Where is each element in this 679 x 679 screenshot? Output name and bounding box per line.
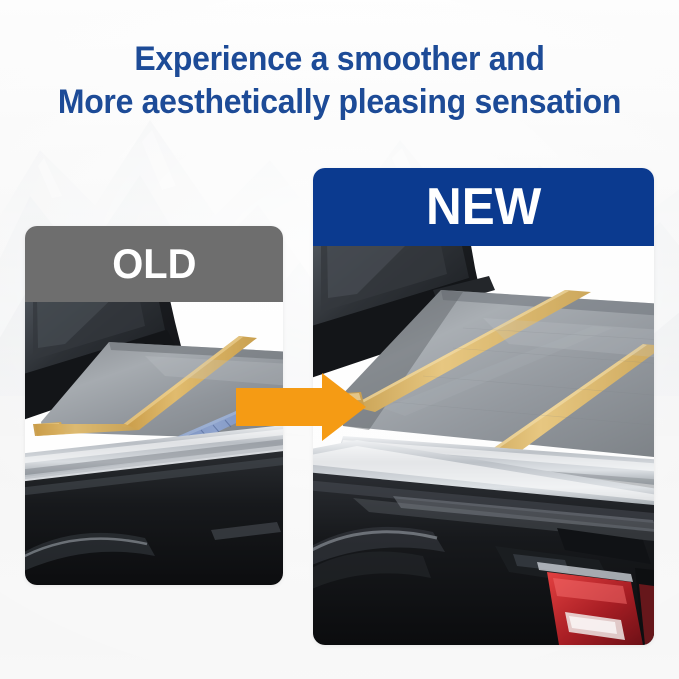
headline: Experience a smoother and More aesthetic…	[0, 38, 679, 124]
old-badge: OLD	[25, 226, 283, 302]
new-badge-label: NEW	[426, 181, 541, 233]
headline-line-2: More aesthetically pleasing sensation	[20, 81, 658, 124]
old-badge-label: OLD	[112, 243, 196, 285]
headline-line-1: Experience a smoother and	[20, 38, 658, 81]
right-arrow-icon	[236, 372, 366, 442]
new-badge: NEW	[313, 168, 654, 246]
banner-canvas: Experience a smoother and More aesthetic…	[0, 0, 679, 679]
